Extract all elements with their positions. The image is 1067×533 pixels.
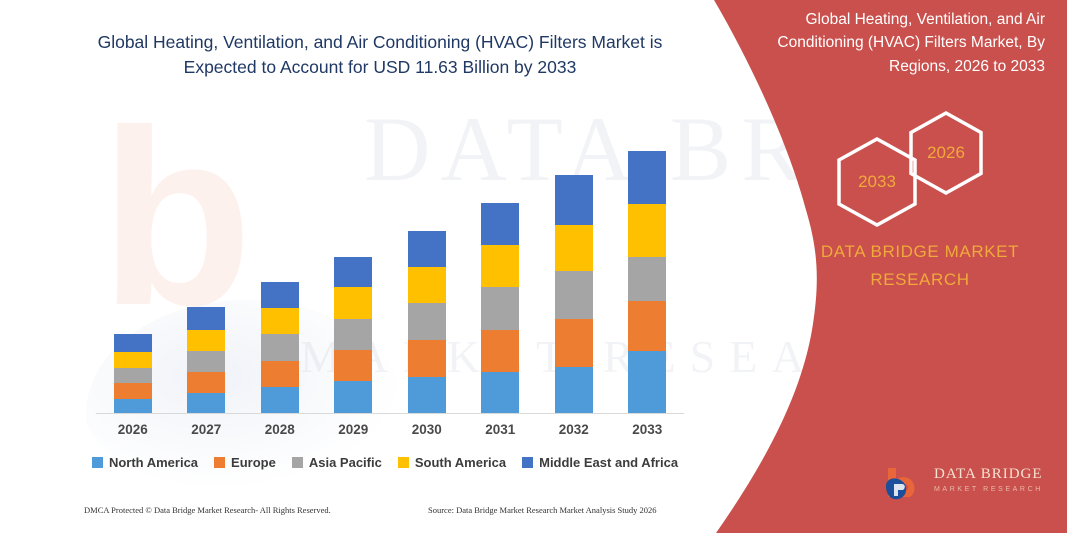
legend-item[interactable]: Middle East and Africa (522, 455, 678, 470)
stacked-bar[interactable] (408, 231, 446, 413)
bar-segment[interactable] (114, 334, 152, 352)
stacked-bar[interactable] (628, 151, 666, 413)
bar-segment[interactable] (408, 267, 446, 303)
bar-segment[interactable] (261, 282, 299, 308)
bar-segment[interactable] (334, 257, 372, 287)
brand-name: DATA BRIDGE MARKET RESEARCH (790, 238, 1050, 294)
legend-item[interactable]: North America (92, 455, 198, 470)
legend-swatch-icon (214, 457, 225, 468)
bar-segment[interactable] (408, 303, 446, 340)
bar-segment[interactable] (555, 271, 593, 319)
x-axis-tick-label: 2031 (464, 422, 538, 437)
legend-swatch-icon (92, 457, 103, 468)
stacked-bar[interactable] (555, 175, 593, 413)
hexagon-badge-2033: 2033 (834, 136, 920, 228)
bar-segment[interactable] (481, 330, 519, 372)
legend-label: North America (109, 455, 198, 470)
stacked-bar[interactable] (481, 203, 519, 413)
hexagon-badge-2026-label: 2026 (927, 143, 965, 163)
bar-segment[interactable] (334, 350, 372, 381)
bar-segment[interactable] (334, 381, 372, 413)
bar-segment[interactable] (555, 367, 593, 413)
bar-segment[interactable] (187, 330, 225, 351)
bar-segment[interactable] (334, 319, 372, 350)
legend-label: South America (415, 455, 506, 470)
legend-label: Middle East and Africa (539, 455, 678, 470)
bar-segment[interactable] (408, 231, 446, 267)
x-axis-tick-label: 2026 (96, 422, 170, 437)
bar-slot (243, 96, 317, 413)
bar-segment[interactable] (481, 287, 519, 330)
x-axis-labels: 20262027202820292030203120322033 (96, 422, 684, 437)
bar-segment[interactable] (628, 351, 666, 413)
legend-label: Europe (231, 455, 276, 470)
bar-segment[interactable] (628, 151, 666, 204)
legend-swatch-icon (292, 457, 303, 468)
bar-segment[interactable] (261, 387, 299, 413)
x-axis-tick-label: 2033 (611, 422, 685, 437)
chart-plot-area (96, 96, 684, 414)
bar-slot (317, 96, 391, 413)
x-axis-tick-label: 2028 (243, 422, 317, 437)
bar-segment[interactable] (261, 308, 299, 334)
bar-segment[interactable] (481, 203, 519, 245)
bar-segment[interactable] (187, 351, 225, 372)
bar-segment[interactable] (628, 257, 666, 301)
stacked-bar[interactable] (334, 257, 372, 413)
footer: DMCA Protected © Data Bridge Market Rese… (0, 505, 710, 525)
bar-segment[interactable] (114, 352, 152, 368)
hexagon-group: 2026 2033 (818, 108, 1018, 228)
bar-segment[interactable] (481, 245, 519, 287)
chart-legend: North AmericaEuropeAsia PacificSouth Ame… (60, 455, 710, 470)
stacked-bar[interactable] (261, 282, 299, 413)
bar-segment[interactable] (555, 319, 593, 367)
bar-segment[interactable] (187, 393, 225, 413)
company-logo: DATA BRIDGE MARKET RESEARCH (884, 462, 1054, 508)
hexagon-badge-2033-label: 2033 (858, 172, 896, 192)
footer-source: Source: Data Bridge Market Research Mark… (428, 505, 657, 515)
stacked-bar[interactable] (187, 307, 225, 413)
bar-segment[interactable] (187, 307, 225, 330)
bar-segment[interactable] (114, 399, 152, 413)
stacked-bar[interactable] (114, 334, 152, 413)
bar-segment[interactable] (555, 175, 593, 225)
bar-slot (170, 96, 244, 413)
bar-slot (537, 96, 611, 413)
legend-item[interactable]: Europe (214, 455, 276, 470)
bar-segment[interactable] (334, 287, 372, 319)
logo-subtitle: MARKET RESEARCH (934, 486, 1054, 493)
x-axis-tick-label: 2030 (390, 422, 464, 437)
bar-slot (464, 96, 538, 413)
x-axis-tick-label: 2027 (170, 422, 244, 437)
x-axis-tick-label: 2032 (537, 422, 611, 437)
x-axis-line (96, 413, 684, 414)
bar-segment[interactable] (555, 225, 593, 271)
footer-copyright: DMCA Protected © Data Bridge Market Rese… (84, 505, 331, 515)
bar-segment[interactable] (408, 340, 446, 377)
page-title: Global Heating, Ventilation, and Air Con… (60, 30, 700, 81)
legend-swatch-icon (398, 457, 409, 468)
logo-title: DATA BRIDGE (934, 466, 1054, 483)
logo-wordmark: DATA BRIDGE MARKET RESEARCH (934, 466, 1054, 493)
legend-swatch-icon (522, 457, 533, 468)
logo-bridge-icon (884, 464, 926, 506)
legend-item[interactable]: Asia Pacific (292, 455, 382, 470)
bar-slot (611, 96, 685, 413)
bar-slot (390, 96, 464, 413)
x-axis-tick-label: 2029 (317, 422, 391, 437)
bar-segment[interactable] (628, 301, 666, 351)
bar-segment[interactable] (114, 383, 152, 399)
panel-title: Global Heating, Ventilation, and Air Con… (745, 8, 1045, 78)
brand-name-line1: DATA BRIDGE MARKET (790, 238, 1050, 266)
infographic-root: b DATA BRI MARKET RESEARCH Global Heatin… (0, 0, 1067, 533)
legend-item[interactable]: South America (398, 455, 506, 470)
bar-group (96, 96, 684, 413)
bar-slot (96, 96, 170, 413)
bar-segment[interactable] (628, 204, 666, 257)
bar-segment[interactable] (187, 372, 225, 393)
legend-label: Asia Pacific (309, 455, 382, 470)
bar-segment[interactable] (261, 361, 299, 387)
bar-segment[interactable] (114, 368, 152, 383)
brand-name-line2: RESEARCH (790, 266, 1050, 294)
bar-segment[interactable] (481, 372, 519, 413)
bar-segment[interactable] (408, 377, 446, 413)
bar-segment[interactable] (261, 334, 299, 361)
